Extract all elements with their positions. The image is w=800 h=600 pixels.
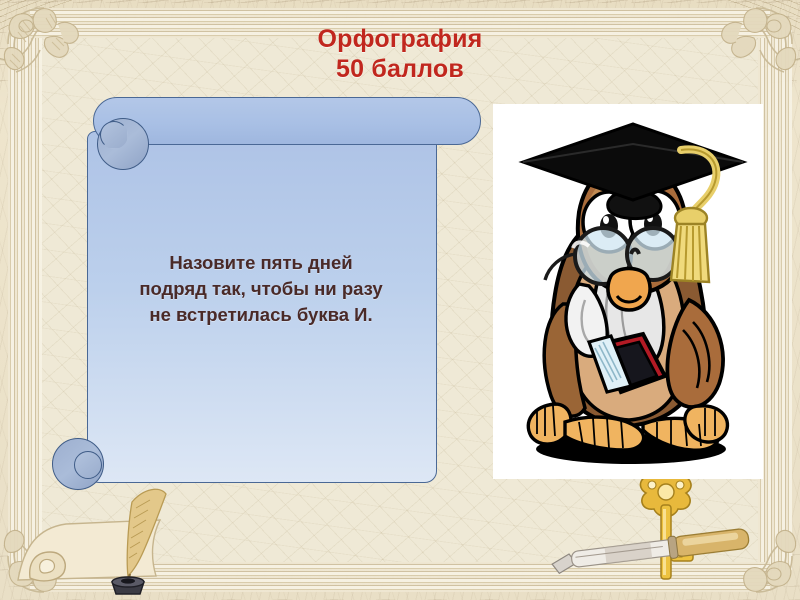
quill-and-inkwell-decoration xyxy=(10,484,230,596)
page-title: Орфография 50 баллов xyxy=(0,24,800,84)
scroll-curl-bottom-icon xyxy=(52,438,104,490)
question-line-3: не встретилась буква И. xyxy=(95,302,427,328)
scroll-banner xyxy=(93,97,481,145)
key-and-pen-decoration xyxy=(544,461,774,596)
question-line-2: подряд так, чтобы ни разу xyxy=(95,276,427,302)
owl-image-panel xyxy=(493,104,763,479)
question-line-1: Назовите пять дней xyxy=(95,250,427,276)
question-text: Назовите пять дней подряд так, чтобы ни … xyxy=(95,250,427,328)
scroll-curl-top-icon xyxy=(97,118,149,170)
slide-canvas: Орфография 50 баллов Назовите пять дней … xyxy=(0,0,800,600)
title-line-2: 50 баллов xyxy=(0,54,800,84)
title-line-1: Орфография xyxy=(0,24,800,54)
owl-professor-icon xyxy=(493,104,763,479)
